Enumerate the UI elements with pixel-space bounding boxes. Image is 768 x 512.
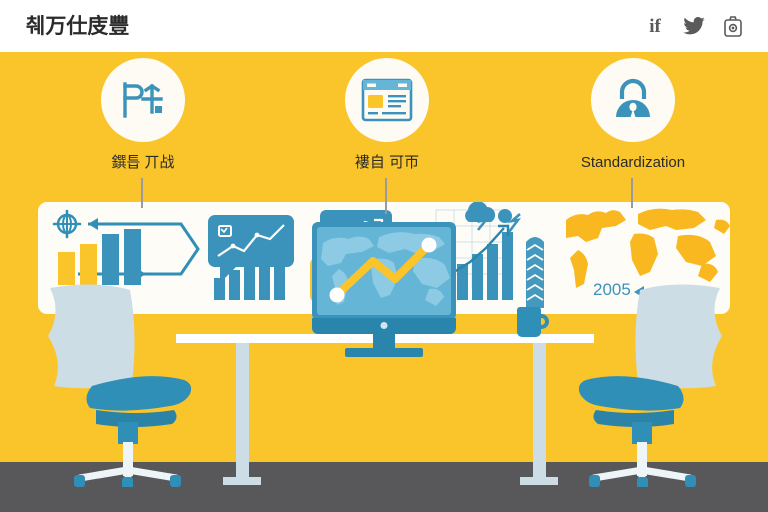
desktop-monitor (312, 222, 456, 357)
flow-chevron (146, 224, 198, 274)
badge-webpage-label: 褸自 可帀 (302, 155, 472, 170)
chair-backrest (635, 284, 722, 388)
desk-leg-right (533, 343, 546, 485)
connector-line-1 (141, 178, 143, 208)
monitor-power-dot (381, 322, 388, 329)
monitor-bezel (312, 222, 456, 320)
badge-row: 鐉틉 丌战 (0, 58, 768, 178)
facebook-icon[interactable]: if (644, 15, 666, 37)
monitor-screen (317, 227, 451, 315)
instagram-icon[interactable] (722, 15, 744, 37)
infographic-banner: 췌万仕庋豐 if (0, 0, 768, 512)
chair-post (118, 422, 138, 444)
office-chair-left (36, 282, 206, 492)
cloud-icon (465, 202, 520, 232)
connector-line-3 (631, 178, 633, 208)
glyph-icon (119, 78, 167, 122)
left-bar-chart (58, 229, 141, 285)
twitter-icon[interactable] (683, 15, 705, 37)
padlock-icon (610, 77, 656, 123)
desk-foot-right (520, 477, 558, 485)
connector-line-2 (385, 178, 387, 214)
globe-crosshair-icon (54, 211, 80, 237)
badge-standardization[interactable]: Standardization (540, 58, 726, 170)
chair-backrest (48, 284, 135, 388)
desk-foot-left (223, 477, 261, 485)
chair-post (632, 422, 652, 444)
monitor-base (345, 348, 423, 357)
badge-webpage-circle (345, 58, 429, 142)
browser-window-icon (361, 78, 413, 122)
social-links: if (644, 15, 744, 37)
badge-webpage[interactable]: 褸自 可帀 (302, 58, 472, 170)
striped-column (526, 237, 544, 308)
badge-analytics[interactable]: 鐉틉 丌战 (58, 58, 228, 170)
office-chair-right (564, 282, 734, 492)
page-title: 췌万仕庋豐 (26, 16, 129, 37)
facebook-icon-label: if (649, 17, 661, 36)
badge-standardization-label: Standardization (540, 155, 726, 170)
page-header: 췌万仕庋豐 if (0, 0, 768, 52)
coffee-mug (517, 307, 541, 337)
monitor-neck (373, 334, 395, 348)
monitor-chin (312, 318, 456, 334)
badge-standardization-circle (591, 58, 675, 142)
desk-leg-left (236, 343, 249, 485)
badge-analytics-label: 鐉틉 丌战 (58, 155, 228, 170)
flow-arrow-top (88, 218, 146, 230)
world-map-shape (566, 209, 730, 288)
badge-analytics-circle (101, 58, 185, 142)
